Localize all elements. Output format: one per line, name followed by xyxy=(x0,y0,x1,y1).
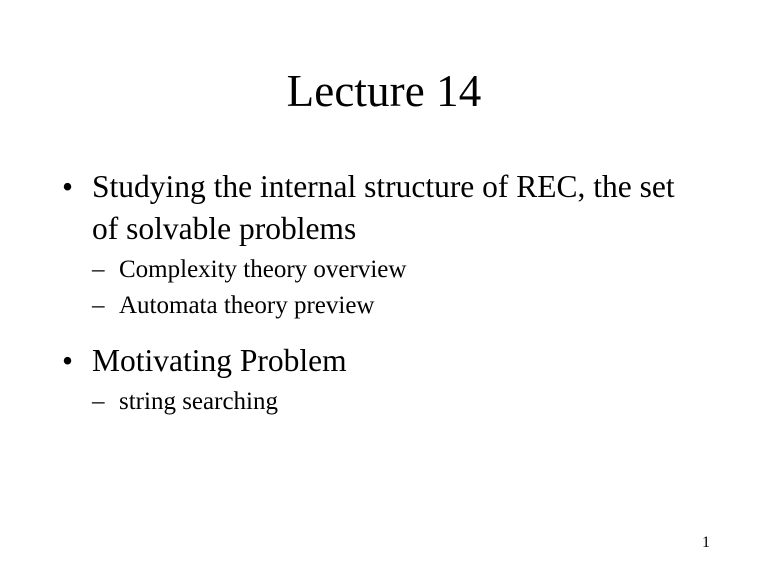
list-item: – string searching xyxy=(92,384,716,420)
bullet-dot-icon: • xyxy=(62,340,73,382)
list-item: – Complexity theory overview xyxy=(92,252,716,288)
sub-bullet-list: – Complexity theory overview – Automata … xyxy=(92,252,716,324)
list-item-label: string searching xyxy=(119,388,278,415)
list-item-label: Complexity theory overview xyxy=(119,256,406,283)
list-item-label: Motivating Problem xyxy=(92,340,692,382)
bullet-list: • Studying the internal structure of REC… xyxy=(56,166,716,420)
list-item-label: Automata theory preview xyxy=(119,292,374,319)
en-dash-icon: – xyxy=(92,252,105,288)
list-item: • Studying the internal structure of REC… xyxy=(56,166,716,324)
en-dash-icon: – xyxy=(92,288,105,324)
en-dash-icon: – xyxy=(92,384,105,420)
page-title: Lecture 14 xyxy=(0,68,768,115)
list-item: – Automata theory preview xyxy=(92,288,716,324)
presentation-slide: Lecture 14 • Studying the internal struc… xyxy=(0,0,768,576)
slide-number: 1 xyxy=(702,534,710,552)
bullet-dot-icon: • xyxy=(62,166,73,208)
list-item-label: Studying the internal structure of REC, … xyxy=(92,166,692,250)
slide-body: • Studying the internal structure of REC… xyxy=(56,166,716,421)
sub-bullet-list: – string searching xyxy=(92,384,716,420)
list-item: • Motivating Problem – string searching xyxy=(56,340,716,420)
